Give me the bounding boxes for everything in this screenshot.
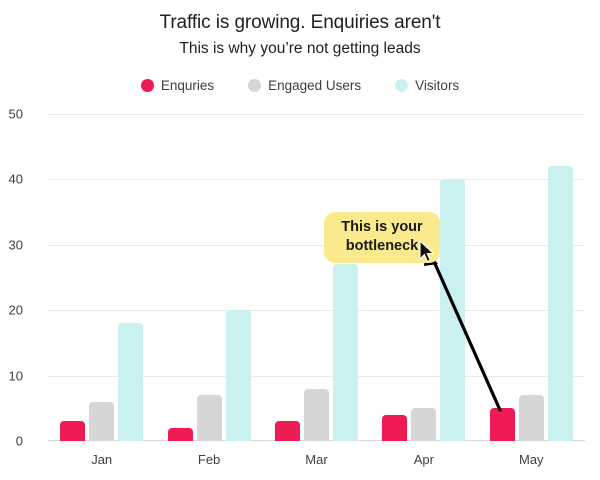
bar[interactable] xyxy=(60,421,85,441)
mouse-pointer-icon xyxy=(418,240,436,264)
x-axis-tick-label: Apr xyxy=(370,452,477,467)
y-axis-tick-label: 40 xyxy=(0,172,23,187)
y-axis-tick-label: 30 xyxy=(0,237,23,252)
bar[interactable] xyxy=(304,389,329,441)
y-axis-tick-label: 50 xyxy=(0,107,23,122)
bar-group xyxy=(478,114,585,441)
x-axis-tick-label: Jan xyxy=(48,452,155,467)
chart-legend: Enquries Engaged Users Visitors xyxy=(0,78,600,93)
legend-item-engaged-users[interactable]: Engaged Users xyxy=(248,78,361,93)
bar[interactable] xyxy=(118,323,143,441)
bar[interactable] xyxy=(275,421,300,441)
bar-group xyxy=(263,114,370,441)
x-axis-tick-label: Mar xyxy=(263,452,370,467)
legend-item-visitors[interactable]: Visitors xyxy=(395,78,459,93)
bar[interactable] xyxy=(519,395,544,441)
bar[interactable] xyxy=(440,179,465,441)
bar-group xyxy=(155,114,262,441)
bar[interactable] xyxy=(89,402,114,441)
circle-swatch-icon xyxy=(248,79,261,92)
legend-item-enquries[interactable]: Enquries xyxy=(141,78,214,93)
bar-group xyxy=(370,114,477,441)
x-axis-tick-label: Feb xyxy=(155,452,262,467)
bar[interactable] xyxy=(548,166,573,441)
bar[interactable] xyxy=(197,395,222,441)
bar[interactable] xyxy=(333,264,358,441)
chart-subtitle: This is why you’re not getting leads xyxy=(0,40,600,58)
y-axis-tick-label: 20 xyxy=(0,303,23,318)
circle-swatch-icon xyxy=(395,79,408,92)
bar[interactable] xyxy=(382,415,407,441)
circle-swatch-icon xyxy=(141,79,154,92)
bar[interactable] xyxy=(411,408,436,441)
bar[interactable] xyxy=(490,408,515,441)
y-axis-tick-label: 10 xyxy=(0,368,23,383)
x-axis-tick-label: May xyxy=(478,452,585,467)
annotation-line-1: This is your xyxy=(324,218,440,237)
legend-label: Engaged Users xyxy=(268,78,361,93)
bar[interactable] xyxy=(168,428,193,441)
chart-title: Traffic is growing. Enquiries aren't xyxy=(0,12,600,34)
bar-group xyxy=(48,114,155,441)
bar-chart: Traffic is growing. Enquiries aren't Thi… xyxy=(0,0,600,480)
y-axis-tick-label: 0 xyxy=(0,434,23,449)
legend-label: Visitors xyxy=(415,78,459,93)
bar[interactable] xyxy=(226,310,251,441)
legend-label: Enquries xyxy=(161,78,214,93)
plot-area: 01020304050 JanFebMarAprMay xyxy=(48,114,585,441)
